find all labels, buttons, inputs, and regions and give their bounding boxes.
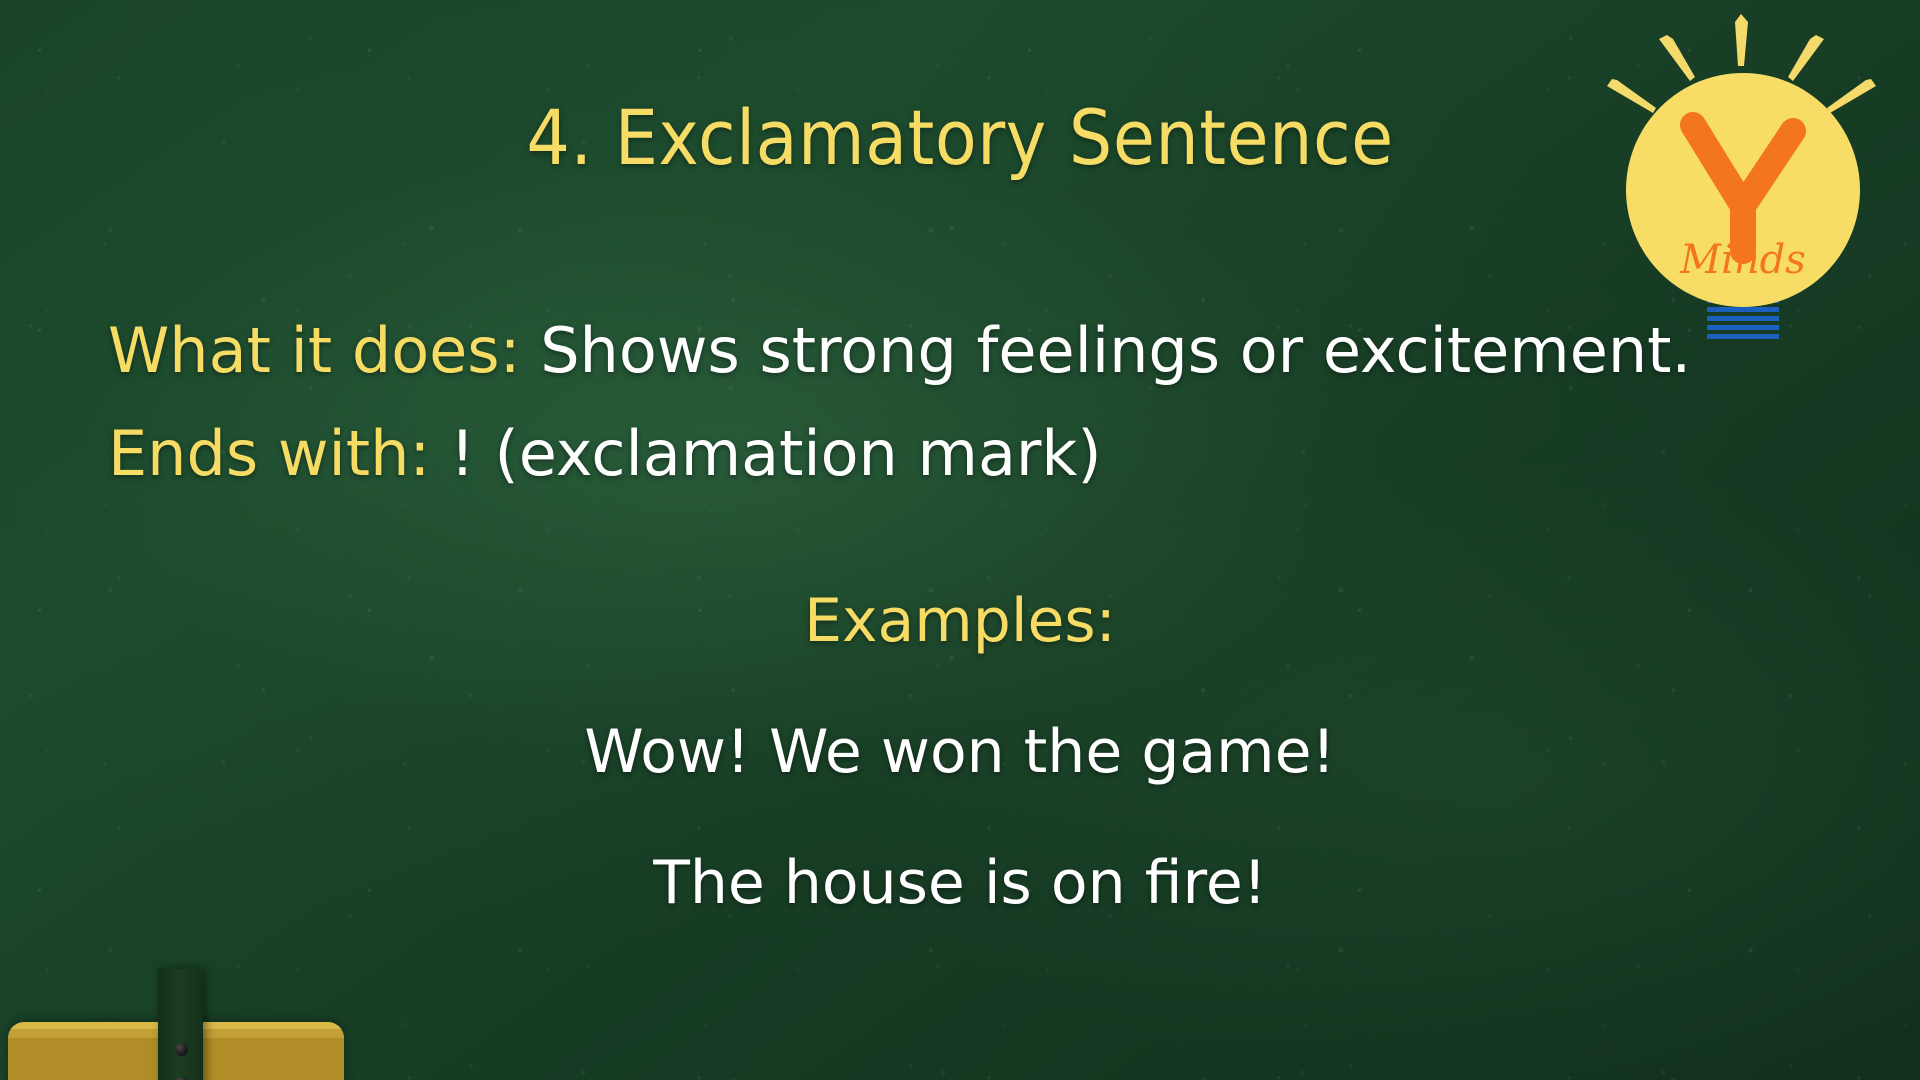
what-it-does-text: Shows strong feelings or excitement. — [520, 314, 1691, 387]
ends-with-label: Ends with: — [108, 417, 430, 490]
chalk-tray-strap — [158, 969, 203, 1080]
rivet-icon — [175, 1043, 188, 1056]
slide-canvas: 4. Exclamatory Sentence What it does: Sh… — [0, 0, 1920, 1080]
chalk-tray — [8, 1022, 344, 1080]
example-item-1: Wow! We won the game! — [0, 709, 1920, 796]
what-it-does-label: What it does: — [108, 314, 520, 387]
ends-with-text: ! (exclamation mark) — [430, 417, 1101, 490]
definition-ends-with-line: Ends with: ! (exclamation mark) — [108, 403, 1868, 506]
logo-wordmark: Minds — [1679, 237, 1806, 283]
lightbulb-logo: Minds — [1588, 8, 1898, 368]
examples-heading: Examples: — [0, 578, 1920, 665]
examples-block: Examples: Wow! We won the game! The hous… — [0, 578, 1920, 927]
example-item-2: The house is on fire! — [0, 840, 1920, 927]
